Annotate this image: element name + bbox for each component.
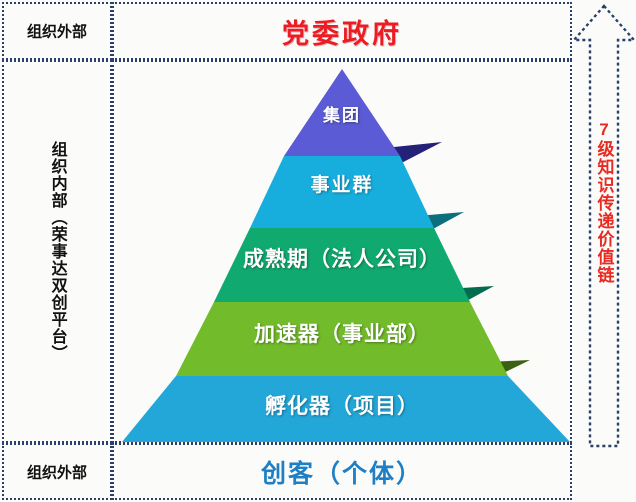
org-internal-label: 组织内部（荣事达双创平台） [48,141,65,362]
value-chain-arrow: 7级知识传递价值链 [572,0,636,450]
pyramid-diagram: 组织外部 组织内部（荣事达双创平台） 组织外部 党委政府 创客（个体） [0,0,636,502]
cell-pyramid-area [112,60,572,443]
org-internal-label-wrap: 组织内部（荣事达双创平台） [4,62,110,441]
value-chain-label-wrap: 7级知识传递价值链 [572,120,636,284]
org-external-top-label: 组织外部 [4,21,110,42]
cell-government-band [112,2,572,60]
cell-org-external-bottom: 组织外部 [2,443,112,500]
cell-org-internal: 组织内部（荣事达双创平台） [2,60,112,443]
cell-maker-band [112,443,572,500]
value-chain-label: 7级知识传递价值链 [594,120,613,284]
org-external-bottom-label: 组织外部 [4,461,110,482]
cell-org-external-top: 组织外部 [2,2,112,60]
